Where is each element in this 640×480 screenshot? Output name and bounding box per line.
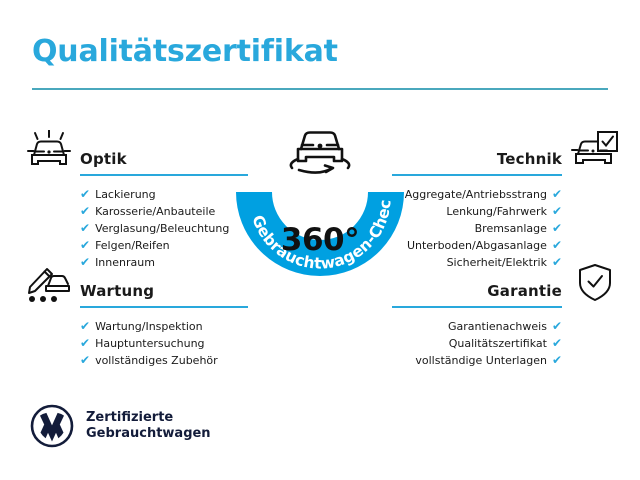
section-technik-list: Aggregate/Antriebsstrang✔ Lenkung/Fahrwe…	[385, 186, 620, 271]
list-item: Lenkung/Fahrwerk✔	[385, 203, 562, 220]
check-icon: ✔	[552, 237, 562, 254]
list-item-label: Felgen/Reifen	[95, 237, 170, 254]
section-optik-title: Optik	[80, 150, 127, 168]
list-item: ✔vollständiges Zubehör	[80, 352, 254, 369]
section-wartung: Wartung ✔Wartung/Inspektion ✔Hauptunters…	[24, 262, 254, 369]
list-item: vollständige Unterlagen✔	[385, 352, 562, 369]
header-divider	[32, 88, 608, 90]
list-item-label: Verglasung/Beleuchtung	[95, 220, 229, 237]
check-icon: ✔	[552, 335, 562, 352]
list-item-label: Karosserie/Anbauteile	[95, 203, 215, 220]
section-wartung-header: Wartung	[24, 262, 254, 308]
list-item: Bremsanlage✔	[385, 220, 562, 237]
footer-line-1: Zertifizierte	[86, 410, 211, 426]
check-icon: ✔	[80, 335, 90, 352]
list-item: ✔Lackierung	[80, 186, 254, 203]
section-technik-divider	[392, 174, 562, 176]
list-item: Aggregate/Antriebsstrang✔	[385, 186, 562, 203]
check-icon: ✔	[80, 203, 90, 220]
list-item-label: vollständiges Zubehör	[95, 352, 218, 369]
shield-check-icon	[570, 262, 620, 304]
check-icon: ✔	[552, 203, 562, 220]
section-wartung-divider	[80, 306, 248, 308]
footer-line-2: Gebrauchtwagen	[86, 426, 211, 442]
list-item-label: vollständige Unterlagen	[415, 352, 547, 369]
check-icon: ✔	[80, 186, 90, 203]
list-item: ✔Karosserie/Anbauteile	[80, 203, 254, 220]
vw-logo-icon	[30, 404, 74, 448]
check-icon: ✔	[552, 352, 562, 369]
list-item: Garantienachweis✔	[385, 318, 562, 335]
check-icon: ✔	[552, 186, 562, 203]
list-item-label: Bremsanlage	[475, 220, 547, 237]
badge-360-gebrauchtwagen-check: Gebrauchtwagen-Check 360°	[232, 126, 408, 312]
check-icon: ✔	[80, 237, 90, 254]
footer-logo-block: Zertifizierte Gebrauchtwagen	[30, 404, 211, 448]
check-icon: ✔	[80, 220, 90, 237]
section-garantie-header: Garantie	[385, 262, 620, 308]
section-wartung-title: Wartung	[80, 282, 154, 300]
list-item-label: Hauptuntersuchung	[95, 335, 204, 352]
check-icon: ✔	[552, 318, 562, 335]
list-item: ✔Hauptuntersuchung	[80, 335, 254, 352]
section-garantie: Garantie Garantienachweis✔ Qualitätszert…	[385, 262, 620, 369]
pen-car-service-icon	[24, 262, 74, 304]
list-item-label: Lackierung	[95, 186, 156, 203]
section-technik-header: Technik	[385, 130, 620, 176]
section-optik-header: Optik	[24, 130, 254, 176]
section-optik-divider	[80, 174, 248, 176]
list-item: Unterboden/Abgasanlage✔	[385, 237, 562, 254]
badge-center-label: 360°	[232, 222, 408, 258]
list-item-label: Wartung/Inspektion	[95, 318, 203, 335]
section-optik-list: ✔Lackierung ✔Karosserie/Anbauteile ✔Verg…	[24, 186, 254, 271]
list-item: ✔Verglasung/Beleuchtung	[80, 220, 254, 237]
check-icon: ✔	[80, 352, 90, 369]
car-shine-icon	[24, 130, 74, 172]
section-technik: Technik Aggregate/Antriebsstrang✔ Lenkun…	[385, 130, 620, 271]
list-item-label: Lenkung/Fahrwerk	[446, 203, 547, 220]
check-icon: ✔	[80, 318, 90, 335]
list-item-label: Garantienachweis	[448, 318, 547, 335]
section-garantie-title: Garantie	[487, 282, 562, 300]
section-garantie-list: Garantienachweis✔ Qualitätszertifikat✔ v…	[385, 318, 620, 369]
car-checkbox-icon	[570, 130, 620, 172]
list-item-label: Qualitätszertifikat	[449, 335, 547, 352]
list-item: Qualitätszertifikat✔	[385, 335, 562, 352]
check-icon: ✔	[552, 220, 562, 237]
list-item-label: Aggregate/Antriebsstrang	[405, 186, 547, 203]
section-technik-title: Technik	[497, 150, 562, 168]
footer-text: Zertifizierte Gebrauchtwagen	[86, 410, 211, 442]
list-item: ✔Felgen/Reifen	[80, 237, 254, 254]
list-item: ✔Wartung/Inspektion	[80, 318, 254, 335]
list-item-label: Unterboden/Abgasanlage	[407, 237, 547, 254]
section-garantie-divider	[392, 306, 562, 308]
car-rotate-icon	[280, 126, 360, 178]
section-wartung-list: ✔Wartung/Inspektion ✔Hauptuntersuchung ✔…	[24, 318, 254, 369]
section-optik: Optik ✔Lackierung ✔Karosserie/Anbauteile…	[24, 130, 254, 271]
page-title: Qualitätszertifikat	[32, 34, 338, 69]
certificate-page: Qualitätszertifikat Optik	[0, 0, 640, 480]
